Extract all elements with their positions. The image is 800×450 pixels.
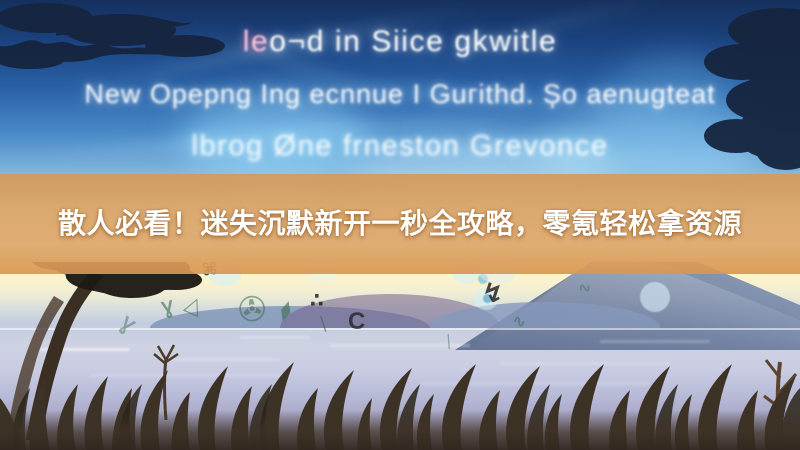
canopy-silhouettes <box>0 0 800 200</box>
foreground-shadow <box>0 410 800 450</box>
scribble-dots: ∴ <box>310 288 324 313</box>
title-banner: 散人必看！迷失沉默新开一秒全攻略，零氪轻松拿资源 <box>0 174 800 274</box>
page-title: 散人必看！迷失沉默新开一秒全攻略，零氪轻松拿资源 <box>30 205 770 243</box>
header-image: leo¬d in Siice gkwitle New Opeрng Ing ec… <box>0 0 800 450</box>
landscape-scene: Ɣ △ ⌘ ✇ ⧫ ∴ ᛁ C ↯ ∿ ∿ ᛁ Ɣ <box>0 262 800 450</box>
doodle-bubble <box>640 282 670 312</box>
scribble-lightning: ↯ <box>480 277 506 311</box>
scribble-c: C <box>348 308 365 336</box>
